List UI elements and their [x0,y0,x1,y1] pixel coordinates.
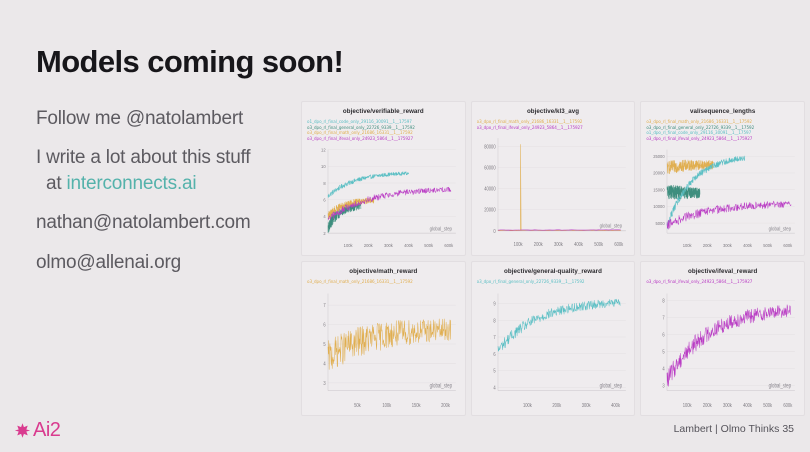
svg-text:400k: 400k [611,402,620,409]
svg-text:60000: 60000 [484,166,496,173]
chart-panel-val-sequence-lengths[interactable]: val/sequence_lengthso3_dpo_rl_final_math… [640,101,805,256]
chart-title: objective/ifeval_reward [646,269,799,276]
svg-text:global_step: global_step [599,382,621,389]
svg-text:150k: 150k [412,402,421,409]
series-line [667,201,791,229]
svg-text:40000: 40000 [484,187,496,194]
svg-text:300k: 300k [723,402,732,409]
ai2-logo-text: Ai2 [33,420,60,440]
chart-legend: o3_dpo_rl_final_ifeval_only_24923_5864__… [646,279,799,285]
legend-entry[interactable]: o3_dpo_rl_final_ifeval_only_24923_5864__… [307,136,460,142]
svg-text:2: 2 [323,231,326,236]
write-about-line: I write a lot about this stuff [36,147,298,169]
chart-plot-area[interactable]: 24681012100k200k300k400k500k600kglobal_s… [307,144,460,251]
svg-text:15000: 15000 [654,187,666,192]
chart-legend: o1_dpo_rl_final_code_only_29116_30091__1… [307,119,460,142]
svg-text:400k: 400k [743,243,753,248]
svg-text:200k: 200k [441,402,450,409]
follow-me-line: Follow me @natolambert [36,108,298,130]
svg-text:7: 7 [663,314,666,321]
svg-text:8: 8 [323,181,326,186]
page-title: Models coming soon! [36,44,343,80]
svg-text:5000: 5000 [656,221,666,226]
chart-title: objective/math_reward [307,269,460,276]
svg-text:10: 10 [321,164,326,169]
chart-panel-math-reward[interactable]: objective/math_rewardo3_dpo_rl_final_mat… [301,261,466,416]
svg-text:600k: 600k [444,243,454,248]
svg-text:80000: 80000 [484,145,496,152]
svg-text:200k: 200k [703,243,713,248]
legend-entry[interactable]: o3_dpo_rl_final_math_only_21686_16331__1… [307,279,460,285]
svg-text:8: 8 [493,317,496,324]
slide-canvas: Models coming soon! Follow me @natolambe… [0,0,810,452]
chart-plot-area[interactable]: 500010000150002000025000100k200k300k400k… [646,144,799,251]
svg-text:300k: 300k [384,243,394,248]
ai2-logo: Ai2 [14,420,60,440]
chart-panel-ifeval-reward[interactable]: objective/ifeval_rewardo3_dpo_rl_final_i… [640,261,805,416]
svg-text:global_step: global_step [769,226,792,232]
svg-text:4: 4 [663,366,666,373]
svg-text:8: 8 [663,297,666,304]
svg-text:25000: 25000 [654,154,666,159]
svg-text:7: 7 [323,302,326,309]
svg-text:200k: 200k [703,402,712,409]
legend-entry[interactable]: o3_dpo_rl_final_general_only_22726_9339_… [477,279,630,285]
svg-text:5: 5 [493,368,496,375]
svg-text:600k: 600k [614,242,623,249]
svg-text:5: 5 [323,341,326,348]
interconnects-link[interactable]: interconnects.ai [67,173,197,194]
chart-panel-kl3-avg[interactable]: objective/kl3_avgo3_dpo_rl_final_math_on… [471,101,636,256]
svg-text:200k: 200k [364,243,374,248]
svg-text:100k: 100k [513,242,522,249]
svg-text:9: 9 [493,301,496,308]
legend-entry[interactable]: o3_dpo_rl_final_ifeval_only_24923_5864__… [646,279,799,285]
svg-text:200k: 200k [533,242,542,249]
svg-text:10000: 10000 [654,204,666,209]
chart-title: objective/general-quality_reward [477,269,630,276]
svg-text:6: 6 [323,197,326,202]
svg-text:100k: 100k [683,402,692,409]
svg-text:12: 12 [321,147,326,152]
ai2-flower-icon [14,422,31,439]
legend-entry[interactable]: o3_dpo_rl_final_ifeval_only_24923_5864__… [646,136,799,142]
svg-text:500k: 500k [424,243,434,248]
body-text-block: Follow me @natolambert I write a lot abo… [36,108,298,291]
email-personal-line: nathan@natolambert.com [36,212,298,234]
svg-text:600k: 600k [784,402,793,409]
svg-text:400k: 400k [574,242,583,249]
chart-panel-general-quality-reward[interactable]: objective/general-quality_rewardo3_dpo_r… [471,261,636,416]
svg-text:global_step: global_step [430,382,452,389]
svg-text:4: 4 [323,361,326,368]
svg-text:500k: 500k [764,243,774,248]
chart-legend: o3_dpo_rl_final_math_only_21686_16331__1… [477,119,630,131]
interconnects-line: at interconnects.ai [36,173,298,195]
svg-text:20000: 20000 [484,208,496,215]
email-olmo-line: olmo@allenai.org [36,252,298,274]
svg-text:0: 0 [493,229,496,236]
svg-text:6: 6 [663,332,666,339]
charts-grid: objective/verifiable_rewardo1_dpo_rl_fin… [301,101,805,416]
svg-text:500k: 500k [764,402,773,409]
chart-plot-area[interactable]: 3456750k100k150k200kglobal_step [307,287,460,411]
svg-text:400k: 400k [743,402,752,409]
svg-text:100k: 100k [382,402,391,409]
svg-text:300k: 300k [581,402,590,409]
series-line [498,145,621,231]
svg-text:100k: 100k [344,243,354,248]
chart-plot-area[interactable]: 345678100k200k300k400k500k600kglobal_ste… [646,287,799,411]
svg-text:200k: 200k [552,402,561,409]
chart-legend: o3_dpo_rl_final_math_only_21686_16331__1… [646,119,799,142]
chart-legend: o3_dpo_rl_final_math_only_21686_16331__1… [307,279,460,285]
svg-text:global_step: global_step [430,226,453,232]
svg-text:400k: 400k [404,243,414,248]
legend-entry[interactable]: o3_dpo_rl_final_ifeval_only_24923_5864__… [477,125,630,131]
chart-panel-verifiable-reward[interactable]: objective/verifiable_rewardo1_dpo_rl_fin… [301,101,466,256]
svg-text:4: 4 [323,214,326,219]
svg-text:7: 7 [493,334,496,341]
svg-text:global_step: global_step [769,382,791,389]
svg-text:500k: 500k [594,242,603,249]
svg-text:global_step: global_step [599,224,622,231]
chart-title: objective/kl3_avg [477,109,630,116]
svg-text:6: 6 [493,351,496,358]
svg-text:3: 3 [323,380,326,387]
svg-text:300k: 300k [723,243,733,248]
svg-text:20000: 20000 [654,171,666,176]
svg-text:100k: 100k [523,402,532,409]
svg-text:600k: 600k [784,243,794,248]
chart-legend: o3_dpo_rl_final_general_only_22726_9339_… [477,279,630,285]
chart-plot-area[interactable]: 456789100k200k300k400kglobal_step [477,287,630,411]
svg-text:5: 5 [663,349,666,356]
svg-text:6: 6 [323,322,326,329]
chart-title: objective/verifiable_reward [307,109,460,116]
series-line [498,299,620,351]
svg-text:50k: 50k [354,402,361,409]
svg-text:100k: 100k [683,243,693,248]
chart-plot-area[interactable]: 020000400006000080000100k200k300k400k500… [477,132,630,251]
chart-title: val/sequence_lengths [646,109,799,116]
svg-text:300k: 300k [554,242,563,249]
svg-text:3: 3 [663,383,666,390]
at-prefix: at [46,173,67,194]
footer-attribution: Lambert | Olmo Thinks 35 [674,423,794,435]
svg-text:4: 4 [493,384,496,391]
